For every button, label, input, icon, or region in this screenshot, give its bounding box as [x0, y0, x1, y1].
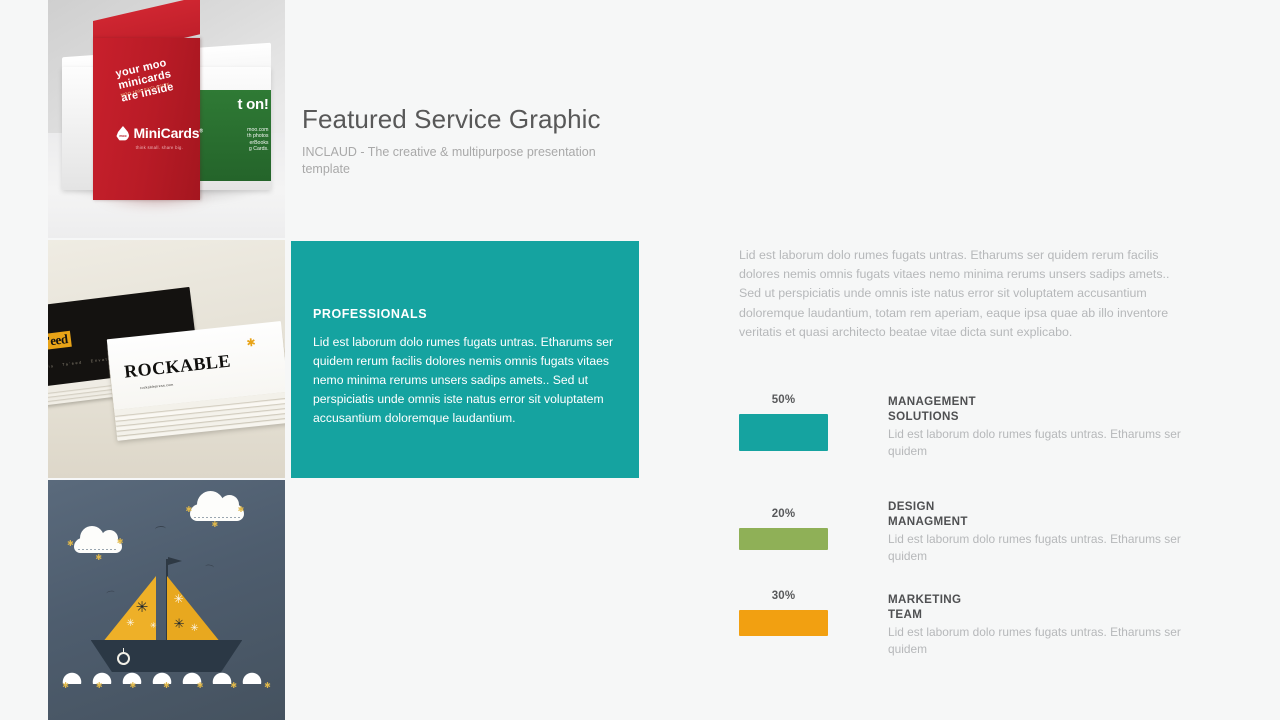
- star-icon: ✱: [62, 681, 69, 691]
- snowflake-icon: ✳: [150, 622, 157, 630]
- stat-title-line1: DESIGN: [888, 500, 935, 513]
- business-cards-photo: COLIS Ta'eed Collis Ta'eed Envato ROCKAB…: [48, 240, 285, 478]
- page-subtitle: INCLAUD - The creative & multipurpose pr…: [302, 144, 602, 177]
- stat-text-group: DESIGN MANAGMENT Lid est laborum dolo ru…: [888, 499, 1184, 564]
- cloud-dash: [78, 549, 118, 550]
- star-icon: ✱: [130, 681, 137, 691]
- minicards-photo: t on! moo.comth photoserBooksg Cards. yo…: [48, 0, 285, 238]
- white-card-url: rockablepress.com: [139, 383, 173, 390]
- sailboat-illustration: ✱ ✱ ✱ ✱ ✱ ✱ ✳ ✳ ✳ ✳ ✳ ✳: [48, 480, 285, 720]
- black-card-footer: Collis Ta'eed Envato: [48, 357, 113, 370]
- stat-title-line2: TEAM: [888, 608, 922, 621]
- star-icon: ✱: [212, 521, 219, 528]
- stat-text-group: MARKETING TEAM Lid est laborum dolo rume…: [888, 592, 1184, 657]
- gallery-image-sailboat[interactable]: ✱ ✱ ✱ ✱ ✱ ✱ ✳ ✳ ✳ ✳ ✳ ✳: [48, 480, 285, 720]
- green-panel-heading: t on!: [238, 96, 269, 115]
- page-header: Featured Service Graphic INCLAUD - The c…: [302, 104, 862, 177]
- green-panel-lines: moo.comth photoserBooksg Cards.: [247, 127, 268, 153]
- feature-panel-title: PROFESSIONALS: [313, 307, 427, 321]
- cloud-icon: [190, 504, 244, 521]
- gallery-image-minicards[interactable]: t on! moo.comth photoserBooksg Cards. yo…: [48, 0, 285, 238]
- snowflake-icon: ✳: [174, 617, 185, 630]
- black-card-name: Ta'eed: [48, 331, 72, 352]
- brand-name: MiniCards®: [133, 125, 202, 141]
- stat-bar: [739, 528, 828, 550]
- stat-description: Lid est laborum dolo rumes fugats untras…: [888, 426, 1184, 459]
- bird-icon: [205, 564, 214, 570]
- stat-percent: 20%: [739, 508, 828, 520]
- box-green-panel: t on! moo.comth photoserBooksg Cards.: [195, 90, 271, 180]
- star-icon: ✱: [96, 681, 103, 691]
- stat-bar: [739, 610, 828, 636]
- slide-canvas: t on! moo.comth photoserBooksg Cards. yo…: [0, 0, 1280, 720]
- stat-title-line1: MANAGEMENT: [888, 395, 976, 408]
- life-ring-icon: [117, 652, 130, 665]
- star-icon: ✱: [230, 681, 237, 691]
- sail-right: [167, 576, 225, 648]
- stat-title-line1: MARKETING: [888, 593, 961, 606]
- red-wrap: your moominicardsare inside MOO 1000 EXC…: [93, 38, 200, 200]
- wave-stars: ✱ ✱ ✱ ✱ ✱ ✱ ✱: [62, 681, 271, 691]
- star-icon: ✱: [185, 506, 192, 513]
- star-icon: ✱: [95, 554, 102, 561]
- cloud-icon: [74, 538, 122, 553]
- stat-percent: 30%: [739, 590, 828, 602]
- handwritten-text: your moominicardsare inside: [114, 57, 175, 105]
- flag-icon: [168, 557, 182, 565]
- stat-bar-group: 20%: [739, 508, 828, 550]
- stat-title: MANAGEMENT SOLUTIONS: [888, 394, 1184, 424]
- snowflake-icon: ✳: [190, 624, 198, 634]
- page-title: Featured Service Graphic: [302, 104, 862, 135]
- snowflake-icon: ✳: [136, 600, 149, 615]
- stat-description: Lid est laborum dolo rumes fugats untras…: [888, 531, 1184, 564]
- snowflake-icon: ✳: [126, 619, 134, 629]
- stat-bar-group: 30%: [739, 590, 828, 636]
- stat-title: MARKETING TEAM: [888, 592, 1184, 622]
- star-icon: ✱: [197, 681, 204, 691]
- cloud-dash: [194, 517, 240, 518]
- stat-bar: [739, 414, 828, 451]
- feature-panel: PROFESSIONALS Lid est laborum dolo rumes…: [291, 241, 639, 478]
- stat-title-line2: SOLUTIONS: [888, 410, 959, 423]
- bird-icon: [154, 525, 165, 532]
- white-card-name: ROCKABLE: [123, 351, 232, 383]
- star-icon: ✱: [117, 538, 124, 545]
- stat-percent: 50%: [739, 394, 828, 406]
- star-icon: ✱: [163, 681, 170, 691]
- feature-panel-body: Lid est laborum dolo rumes fugats untras…: [313, 333, 619, 428]
- brand-tagline: think small. share big.: [136, 145, 183, 150]
- stat-text-group: MANAGEMENT SOLUTIONS Lid est laborum dol…: [888, 394, 1184, 459]
- intro-paragraph: Lid est laborum dolo rumes fugats untras…: [739, 246, 1176, 342]
- star-icon: ✱: [67, 540, 74, 547]
- stat-bar-group: 50%: [739, 394, 828, 451]
- star-icon: ✱: [245, 336, 256, 350]
- snowflake-icon: ✳: [174, 593, 184, 605]
- stat-description: Lid est laborum dolo rumes fugats untras…: [888, 624, 1184, 657]
- stat-title-line2: MANAGMENT: [888, 515, 968, 528]
- gallery-image-business-cards[interactable]: COLIS Ta'eed Collis Ta'eed Envato ROCKAB…: [48, 240, 285, 478]
- moo-logo: MiniCards®: [116, 125, 202, 141]
- star-icon: ✱: [238, 506, 245, 513]
- star-icon: ✱: [264, 681, 271, 691]
- stat-title: DESIGN MANAGMENT: [888, 499, 1184, 529]
- droplet-icon: [116, 126, 129, 141]
